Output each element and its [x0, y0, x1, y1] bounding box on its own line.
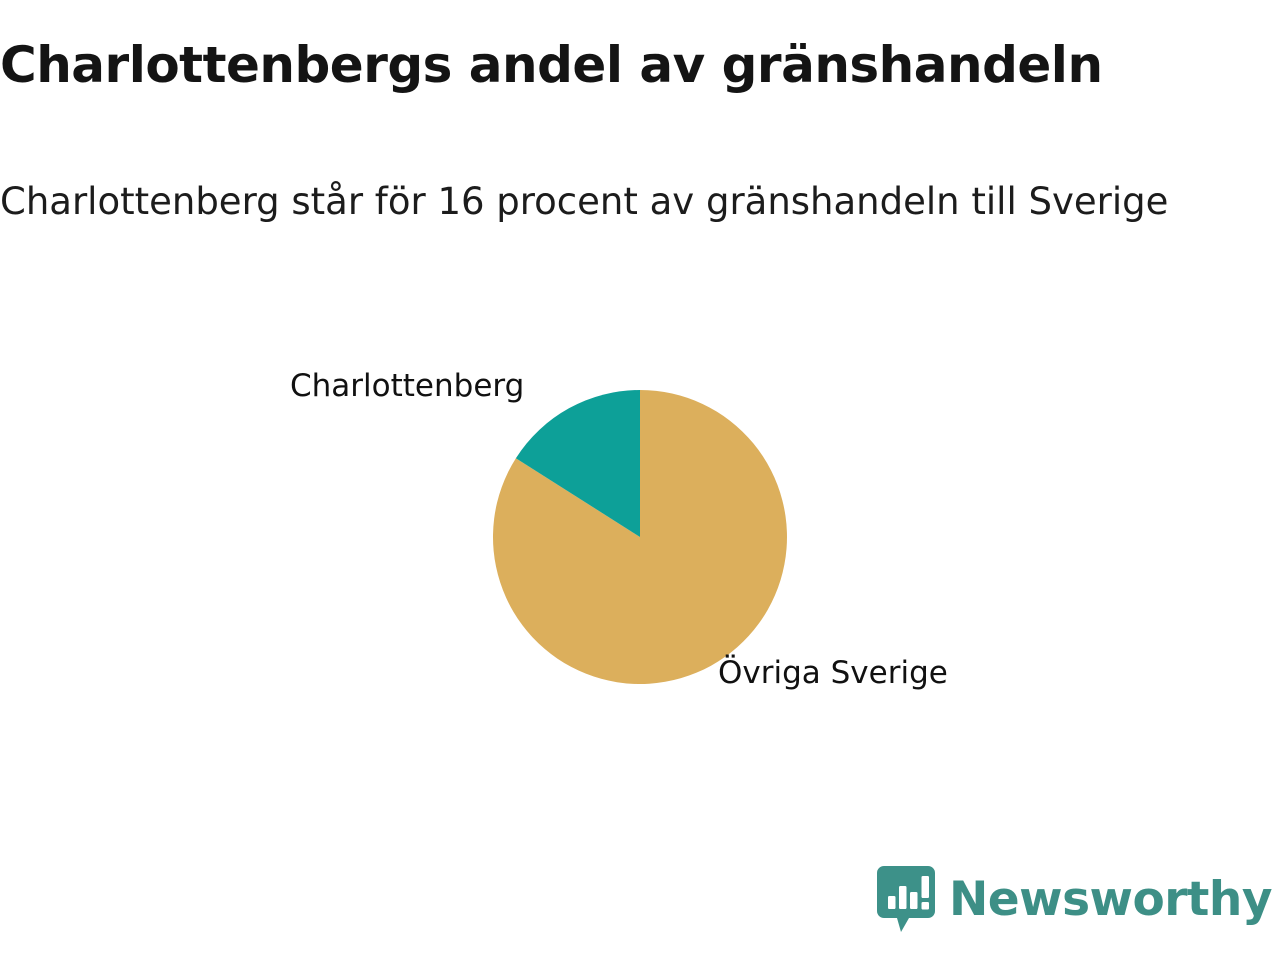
bar-chart-speech-bubble-icon	[877, 866, 935, 932]
pie-chart: Charlottenberg Övriga Sverige	[0, 0, 1280, 960]
chart-page: Charlottenbergs andel av gränshandeln Ch…	[0, 0, 1280, 960]
pie-label-charlottenberg: Charlottenberg	[290, 369, 524, 403]
pie-label-ovriga-sverige: Övriga Sverige	[718, 656, 948, 690]
newsworthy-logo[interactable]: Newsworthy	[877, 866, 1272, 932]
newsworthy-wordmark: Newsworthy	[949, 876, 1272, 923]
pie-chart-svg	[0, 0, 1280, 960]
